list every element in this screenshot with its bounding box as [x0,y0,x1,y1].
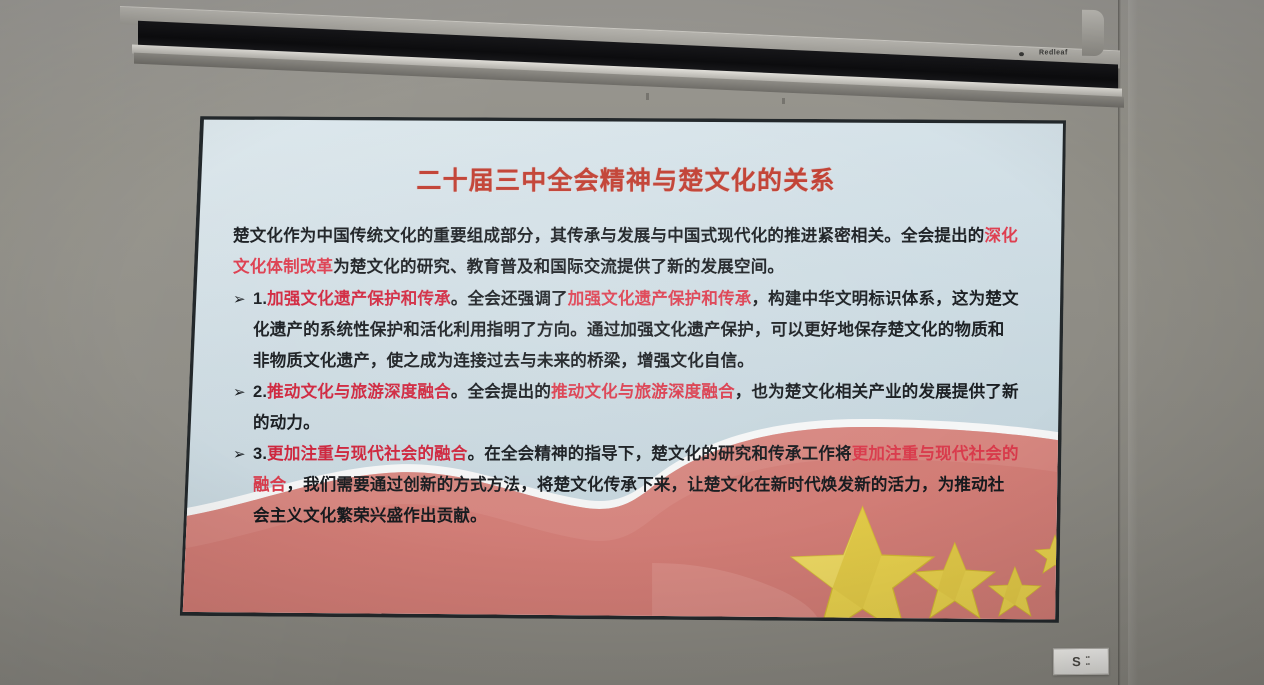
wall-seam-highlight [1128,0,1138,685]
bullet-arrow-icon: ➢ [233,377,253,408]
bullet-arrow-icon: ➢ [233,439,253,470]
bullet-2-text: 2.推动文化与旅游深度融合。全会提出的推动文化与旅游深度融合，也为楚文化相关产业… [253,377,1019,439]
bullet-3-text: 3.更加注重与现代社会的融合。在全会精神的指导下，楚文化的研究和传承工作将更加注… [253,439,1019,532]
bullet-point-1: ➢ 1.加强文化遗产保护和传承。全会还强调了加强文化遗产保护和传承，构建中华文明… [233,284,1019,377]
bullet-1-seg-0: 。全会还强调了 [451,290,568,308]
intro-before: 楚文化作为中国传统文化的重要组成部分，其传承与发展与中国式现代化的推进紧密相关。… [233,227,985,245]
sticker-sub-2: ▪▪ [1086,661,1090,667]
slide-content: 二十届三中全会精神与楚文化的关系 楚文化作为中国传统文化的重要组成部分，其传承与… [181,115,1063,623]
bullet-1-text: 1.加强文化遗产保护和传承。全会还强调了加强文化遗产保护和传承，构建中华文明标识… [253,284,1019,377]
bullet-1-heading: 加强文化遗产保护和传承 [267,290,451,308]
bullet-2-number: 2. [253,383,267,401]
sticker-glyph-icon: S [1072,655,1081,668]
projected-slide: 二十届三中全会精神与楚文化的关系 楚文化作为中国传统文化的重要组成部分，其传承与… [178,112,1066,626]
sticker-sub-1: ▪▪ [1086,655,1090,661]
bullet-1-number: 1. [253,290,267,308]
housing-end-cap [1082,10,1104,57]
bullet-3-number: 3. [253,445,267,463]
intro-paragraph: 楚文化作为中国传统文化的重要组成部分，其传承与发展与中国式现代化的推进紧密相关。… [233,221,1019,283]
bullet-3-seg-2: ，我们需要通过创新的方式方法，将楚文化传承下来，让楚文化在新时代焕发新的活力，为… [253,476,1005,525]
bullet-2-heading: 推动文化与旅游深度融合 [267,383,451,401]
housing-brand-label: Redleaf [1039,50,1068,57]
slide-body: 楚文化作为中国传统文化的重要组成部分，其传承与发展与中国式现代化的推进紧密相关。… [233,221,1019,532]
intro-after: 为楚文化的研究、教育普及和国际交流提供了新的发展空间。 [333,258,784,276]
bullet-2-seg-0: 。全会提出的 [451,383,551,401]
bullet-2-seg-1: 推动文化与旅游深度融合 [551,383,735,401]
slide-title: 二十届三中全会精神与楚文化的关系 [233,161,1019,197]
slide-canvas: 二十届三中全会精神与楚文化的关系 楚文化作为中国传统文化的重要组成部分，其传承与… [181,115,1063,623]
sticker-subtext: ▪▪ ▪▪ [1086,655,1090,668]
bullet-arrow-icon: ➢ [233,284,253,315]
wall-sticker: S ▪▪ ▪▪ [1053,648,1109,676]
bullet-1-seg-1: 加强文化遗产保护和传承 [568,290,752,308]
housing-screw-icon [1019,52,1024,56]
bullet-3-heading: 更加注重与现代社会的融合 [267,445,467,463]
bullet-point-2: ➢ 2.推动文化与旅游深度融合。全会提出的推动文化与旅游深度融合，也为楚文化相关… [233,377,1019,439]
bullet-point-3: ➢ 3.更加注重与现代社会的融合。在全会精神的指导下，楚文化的研究和传承工作将更… [233,439,1019,532]
photo-scene: Redleaf [0,0,1264,685]
bullet-3-seg-0: 。在全会精神的指导下，楚文化的研究和传承工作将 [468,445,852,463]
